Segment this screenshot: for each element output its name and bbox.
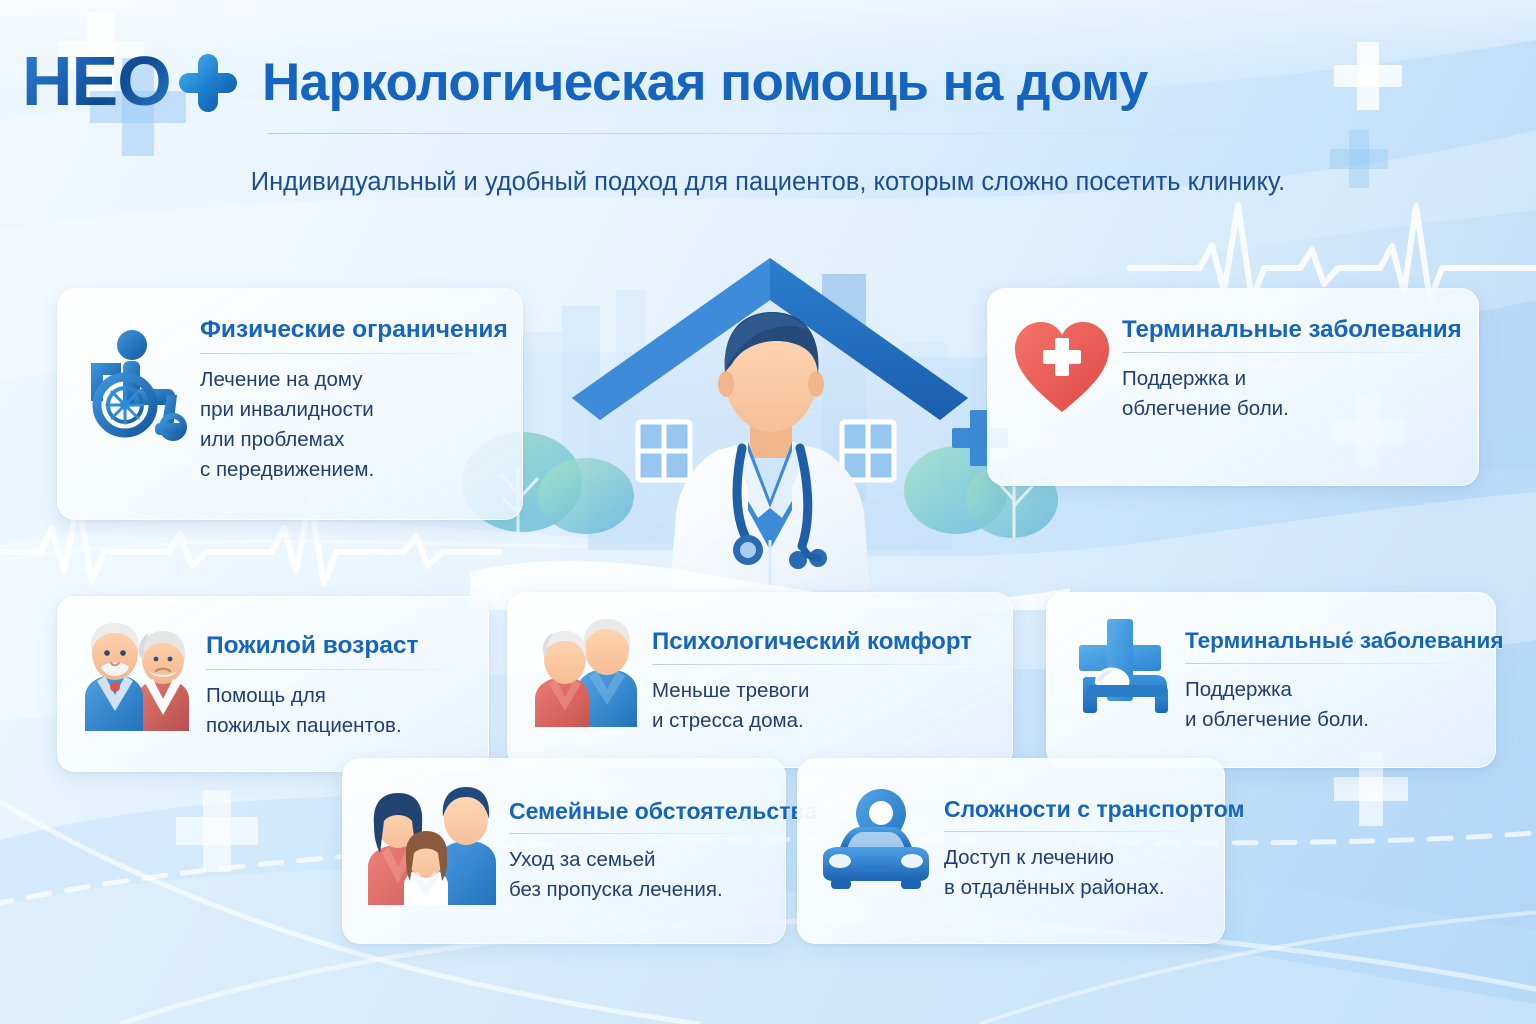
card-title: Терминальные́ заболевания bbox=[1185, 629, 1471, 654]
card-family-circumstances[interactable]: Семейные обстоятельства Уход за семьей б… bbox=[342, 758, 786, 944]
card-terminal-illness-bed[interactable]: Терминальные́ заболевания Поддержка и об… bbox=[1046, 592, 1496, 768]
card-transport-difficulties[interactable]: Сложности с транспортом Доступ к лечению… bbox=[797, 758, 1225, 944]
heart-cross-icon bbox=[1008, 317, 1116, 425]
card-psychological-comfort[interactable]: Психологический комфорт Меньше тревоги и… bbox=[507, 592, 1013, 768]
card-divider bbox=[200, 353, 498, 354]
card-description: Помощь для пожилых пациентов. bbox=[206, 681, 464, 741]
card-description: Уход за семьей без пропуска лечения. bbox=[509, 845, 761, 905]
card-divider bbox=[652, 664, 988, 665]
card-terminal-illness-heart[interactable]: Терминальные заболевания Поддержка и обл… bbox=[987, 288, 1479, 486]
elderly-couple-icon bbox=[78, 619, 200, 729]
decorative-cross-6 bbox=[176, 790, 258, 872]
card-title: Психологический комфорт bbox=[652, 629, 988, 655]
card-title: Пожилой возраст bbox=[206, 633, 464, 660]
family-icon bbox=[363, 781, 503, 907]
card-title: Терминальные заболевания bbox=[1122, 317, 1454, 343]
card-divider bbox=[1185, 663, 1471, 664]
card-description: Лечение на дому при инвалидности или про… bbox=[200, 365, 498, 485]
page-title: Наркологическая помощь на дому bbox=[262, 52, 1148, 113]
hero-illustration bbox=[470, 250, 1070, 610]
card-description: Поддержка и облегчение боли. bbox=[1122, 364, 1454, 424]
card-divider bbox=[206, 669, 464, 670]
logo-text: НЕО bbox=[22, 46, 171, 116]
card-description: Меньше тревоги и стресса дома. bbox=[652, 676, 988, 736]
card-elderly-age[interactable]: Пожилой возраст Помощь для пожилых пацие… bbox=[57, 596, 489, 772]
infographic-canvas: НЕО Наркологическая помощь на дому Индив… bbox=[0, 0, 1536, 1024]
page-subtitle: Индивидуальный и удобный подход для паци… bbox=[0, 164, 1536, 200]
card-title: Физические ограничения bbox=[200, 317, 498, 344]
card-physical-limitations[interactable]: Физические ограничения Лечение на дому п… bbox=[57, 288, 523, 520]
card-description: Доступ к лечению в отдалённых районах. bbox=[944, 843, 1200, 903]
logo-plus-icon bbox=[179, 54, 237, 112]
brand-logo: НЕО bbox=[22, 44, 237, 118]
card-title: Сложности с транспортом bbox=[944, 797, 1200, 822]
card-divider bbox=[509, 833, 761, 834]
card-divider bbox=[944, 831, 1200, 832]
car-location-pin-icon bbox=[818, 785, 938, 897]
two-people-icon bbox=[528, 615, 646, 725]
wheelchair-icon bbox=[78, 317, 194, 433]
card-title: Семейные обстоятельства bbox=[509, 799, 761, 824]
header: НЕО Наркологическая помощь на дому Индив… bbox=[0, 0, 1536, 240]
hospital-bed-cross-icon bbox=[1067, 615, 1179, 725]
card-divider bbox=[1122, 352, 1454, 353]
title-divider bbox=[268, 133, 1288, 134]
card-description: Поддержка и облегчение боли. bbox=[1185, 675, 1471, 735]
